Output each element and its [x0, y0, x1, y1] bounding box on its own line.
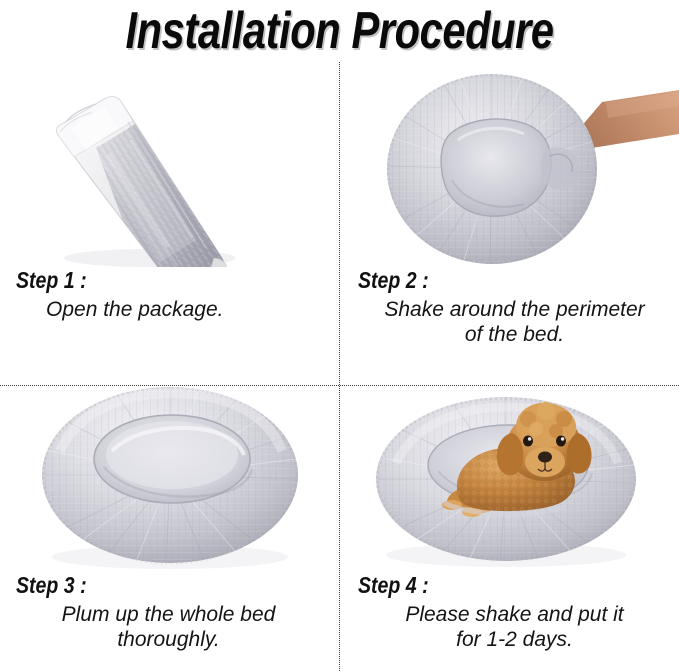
page-title: Installation Procedure [125, 5, 553, 57]
step-caption-1: Step 1 : Open the package. [0, 267, 339, 366]
step-label-3: Step 3 : [16, 572, 291, 599]
step-description-2: Shake around the perimeter of the bed. [358, 297, 671, 347]
page-header: Installation Procedure [0, 0, 679, 62]
step-description-4: Please shake and put it for 1-2 days. [358, 602, 671, 652]
step-label-4: Step 4 : [358, 572, 624, 599]
step-panel-4: Step 4 : Please shake and put it for 1-2… [340, 367, 679, 671]
step-caption-2: Step 2 : Shake around the perimeter of t… [340, 267, 679, 366]
step-panel-2: Step 2 : Shake around the perimeter of t… [340, 62, 679, 366]
hand-shaking-round-bed-photo [340, 62, 679, 267]
step-caption-3: Step 3 : Plum up the whole bed thoroughl… [0, 572, 339, 671]
step-caption-4: Step 4 : Please shake and put it for 1-2… [340, 572, 679, 671]
step-description-1: Open the package. [16, 297, 339, 322]
rolled-bed-in-plastic-bag-photo [0, 62, 339, 267]
step-label-2: Step 2 : [358, 267, 624, 294]
step-panel-1: Step 1 : Open the package. [0, 62, 339, 366]
step-panel-3: Step 3 : Plum up the whole bed thoroughl… [0, 367, 339, 671]
step-description-3: Plum up the whole bed thoroughly. [16, 602, 339, 652]
horizontal-divider [0, 385, 679, 386]
vertical-divider [339, 62, 340, 671]
fluffed-round-bed-photo [0, 367, 339, 572]
step-label-1: Step 1 : [16, 267, 291, 294]
puppy-on-bed-photo [340, 367, 679, 572]
